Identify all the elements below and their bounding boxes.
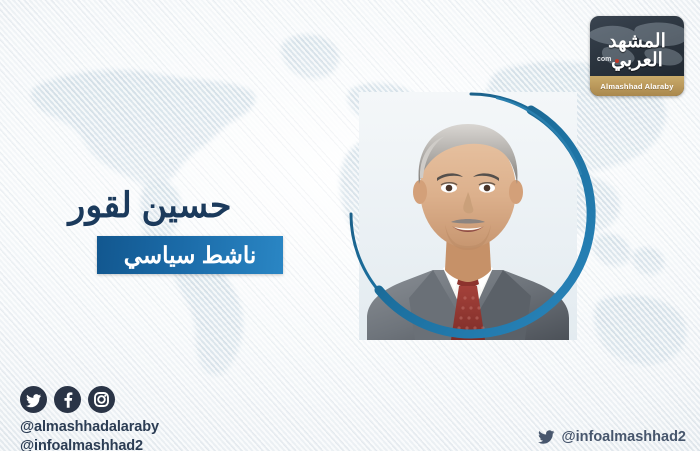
logo-band-label: Almashhad Alaraby [600,82,673,91]
footer-handle-label: @infoalmashhad2 [561,429,686,445]
logo-arabic-line1: المشهد [590,32,684,51]
news-profile-card: المشهد العربي com Almashhad Alaraby [0,0,700,459]
footer-twitter-handle[interactable]: @infoalmashhad2 [538,429,686,445]
bottom-white-strip [0,451,700,459]
logo-red-dot-icon [615,59,619,63]
logo-arabic-text: المشهد العربي [590,32,684,71]
facebook-icon[interactable] [54,386,81,413]
status-badge-label: ناشط سياسي [124,244,257,267]
twitter-icon[interactable] [20,386,47,413]
instagram-icon[interactable] [88,386,115,413]
portrait-ring-accent [345,88,597,340]
twitter-icon-footer [538,430,555,444]
social-handles: @almashhadalaraby @infoalmashhad2 [20,418,159,455]
portrait-container [345,88,597,340]
logo-com-label: com [597,56,611,63]
social-icon-row [20,386,159,413]
status-badge: ناشط سياسي [97,236,283,274]
logo-name-band: Almashhad Alaraby [590,76,684,96]
handle-facebook-instagram[interactable]: @almashhadalaraby [20,418,159,437]
channel-logo[interactable]: المشهد العربي com Almashhad Alaraby [590,16,684,96]
social-block: @almashhadalaraby @infoalmashhad2 [20,386,159,455]
page-title: حسين لقور [0,186,300,226]
